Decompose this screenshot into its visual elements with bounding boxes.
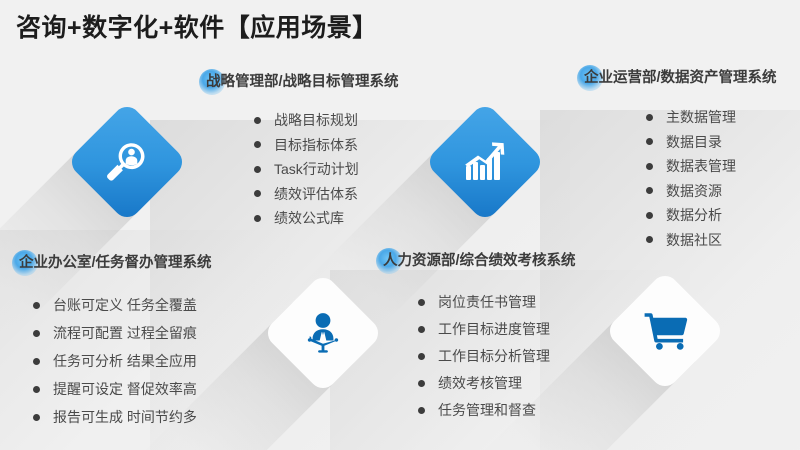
list-item: 工作目标分析管理 [416, 343, 576, 370]
bullet-icon [33, 358, 40, 365]
group-strategy: 战略管理部/战略目标管理系统 战略目标规划 目标指标体系 Task行动计划 绩效… [204, 72, 399, 231]
group-task-supervision: 企业办公室/任务督办管理系统 台账可定义 任务全覆盖 流程可配置 过程全留痕 任… [17, 253, 212, 431]
group-list-data-asset: 主数据管理 数据目录 数据表管理 数据资源 数据分析 数据社区 [644, 105, 777, 252]
bullet-icon [646, 236, 653, 243]
list-item: 岗位责任书管理 [416, 289, 576, 316]
bullet-icon [33, 414, 40, 421]
bullet-icon [418, 380, 425, 387]
list-item: 绩效评估体系 [252, 182, 399, 207]
bullet-icon [254, 215, 261, 222]
list-item: 数据资源 [644, 179, 777, 204]
bullet-icon [646, 212, 653, 219]
bullet-icon [254, 190, 261, 197]
group-data-asset: 企业运营部/数据资产管理系统 主数据管理 数据目录 数据表管理 数据资源 数据分… [582, 68, 777, 252]
bullet-icon [646, 163, 653, 170]
group-heading-task-supervision: 企业办公室/任务督办管理系统 [17, 253, 212, 273]
shopping-cart-icon [642, 311, 688, 351]
list-item: 绩效公式库 [252, 206, 399, 231]
list-item: Task行动计划 [252, 157, 399, 182]
list-item: 数据目录 [644, 130, 777, 155]
group-heading-strategy: 战略管理部/战略目标管理系统 [204, 72, 399, 92]
bullet-icon [33, 386, 40, 393]
list-item: 提醒可设定 督促效率高 [31, 375, 212, 403]
person-search-icon [104, 139, 150, 185]
list-item: 任务管理和督查 [416, 397, 576, 424]
slide-title: 咨询+数字化+软件【应用场景】 [16, 8, 378, 44]
list-item: 主数据管理 [644, 105, 777, 130]
bullet-icon [418, 353, 425, 360]
icon-diamond-data-asset [424, 101, 546, 223]
slide-canvas: 咨询+数字化+软件【应用场景】 [0, 0, 800, 450]
group-list-strategy: 战略目标规划 目标指标体系 Task行动计划 绩效评估体系 绩效公式库 [252, 108, 399, 231]
bullet-icon [646, 138, 653, 145]
bullet-icon [646, 114, 653, 121]
icon-diamond-strategy [66, 101, 188, 223]
list-item: 报告可生成 时间节约多 [31, 403, 212, 431]
growth-chart-icon [462, 140, 508, 184]
list-item: 台账可定义 任务全覆盖 [31, 291, 212, 319]
group-list-task-supervision: 台账可定义 任务全覆盖 流程可配置 过程全留痕 任务可分析 结果全应用 提醒可设… [31, 291, 212, 431]
list-item: 目标指标体系 [252, 133, 399, 158]
group-performance: 人力资源部/综合绩效考核系统 岗位责任书管理 工作目标进度管理 工作目标分析管理… [381, 251, 576, 424]
bullet-icon [33, 330, 40, 337]
bullet-icon [33, 302, 40, 309]
bullet-icon [646, 187, 653, 194]
list-item: 数据分析 [644, 203, 777, 228]
list-item: 流程可配置 过程全留痕 [31, 319, 212, 347]
bullet-icon [254, 117, 261, 124]
bullet-icon [418, 407, 425, 414]
bullet-icon [418, 299, 425, 306]
list-item: 绩效考核管理 [416, 370, 576, 397]
presenter-person-icon [300, 310, 346, 356]
icon-diamond-task-supervision [262, 272, 384, 394]
bullet-icon [254, 166, 261, 173]
list-item: 战略目标规划 [252, 108, 399, 133]
icon-diamond-performance [604, 270, 726, 392]
group-list-performance: 岗位责任书管理 工作目标进度管理 工作目标分析管理 绩效考核管理 任务管理和督查 [416, 289, 576, 424]
list-item: 数据社区 [644, 228, 777, 253]
list-item: 工作目标进度管理 [416, 316, 576, 343]
group-heading-performance: 人力资源部/综合绩效考核系统 [381, 251, 576, 271]
list-item: 任务可分析 结果全应用 [31, 347, 212, 375]
bullet-icon [418, 326, 425, 333]
list-item: 数据表管理 [644, 154, 777, 179]
bullet-icon [254, 141, 261, 148]
group-heading-data-asset: 企业运营部/数据资产管理系统 [582, 68, 777, 88]
